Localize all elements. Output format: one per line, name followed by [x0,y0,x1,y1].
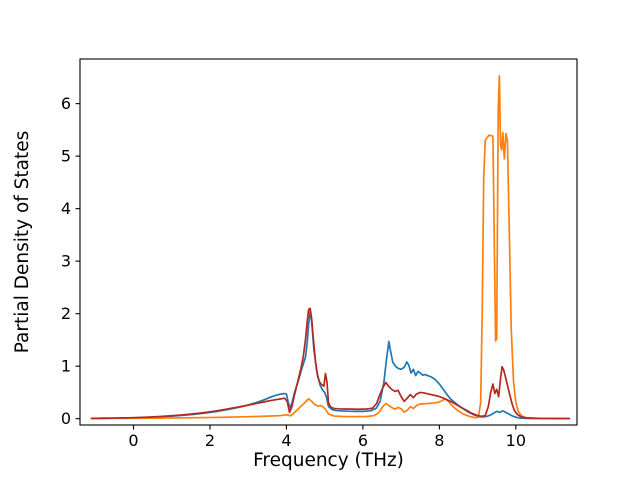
x-tick-label: 6 [358,431,368,450]
y-tick-label: 3 [61,252,71,271]
x-tick-label: 10 [506,431,526,450]
x-tick-label: 4 [281,431,291,450]
y-axis-label: Partial Density of States [12,131,33,354]
x-tick-label: 0 [128,431,138,450]
y-tick-label: 0 [61,409,71,428]
y-tick-label: 5 [61,147,71,166]
figure-canvas: 0246810 0123456 Frequency (THz) Partial … [0,0,640,480]
y-tick-label: 2 [61,304,71,323]
x-tick-label: 8 [434,431,444,450]
y-tick-label: 1 [61,357,71,376]
y-tick-label: 6 [61,94,71,113]
x-tick-label: 2 [205,431,215,450]
x-axis-label: Frequency (THz) [253,450,404,471]
y-tick-label: 4 [61,199,71,218]
pdos-line-chart: 0246810 0123456 Frequency (THz) Partial … [0,0,640,480]
